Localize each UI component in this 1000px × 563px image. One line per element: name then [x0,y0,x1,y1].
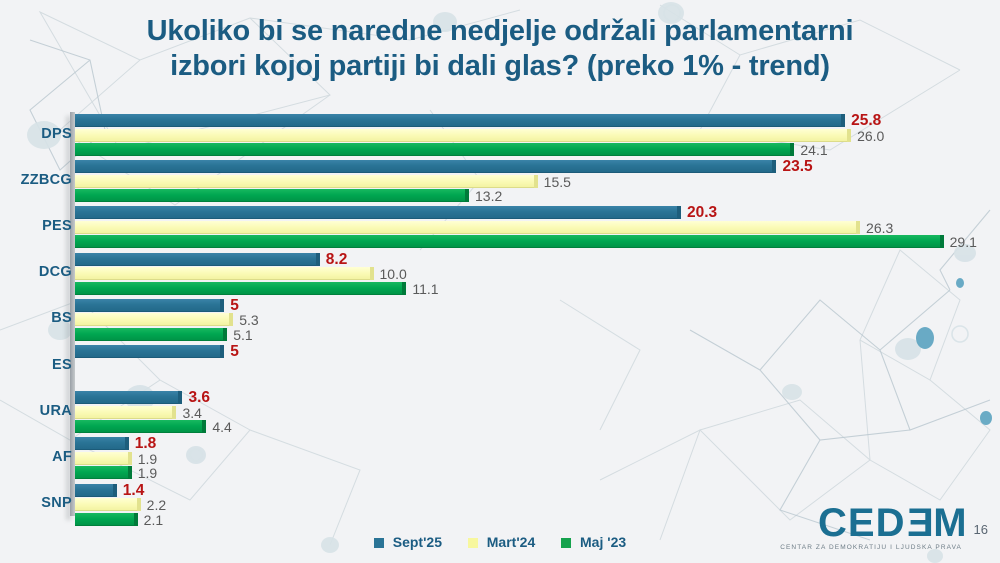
bar-end-cap [113,484,117,497]
category-label-es: ES [52,357,72,373]
cedem-logo: CEDEM 16 CENTAR ZA DEMOKRATIJU I LJUDSKA… [780,504,988,551]
bar-snp-series-2[interactable] [75,513,138,526]
category-label-snp: SNP [41,495,72,511]
value-label-bs-series-0: 5 [230,297,239,315]
bar-bs-series-2[interactable] [75,328,227,341]
value-label-ura-series-2: 4.4 [212,419,231,435]
bar-end-cap [128,452,132,465]
value-label-pes-series-0: 20.3 [687,204,717,222]
bar-end-cap [229,313,233,326]
bar-es-series-0[interactable] [75,345,224,358]
bar-dps-series-1[interactable] [75,129,851,142]
bar-dcg-series-1[interactable] [75,267,374,280]
legend-swatch-icon-0 [374,538,384,548]
value-label-dcg-series-1: 10.0 [380,266,407,282]
bar-ura-series-2[interactable] [75,420,206,433]
bar-row [75,391,182,404]
bar-pes-series-2[interactable] [75,235,944,248]
bar-row [75,484,117,497]
bar-end-cap [172,406,176,419]
bar-end-cap [465,189,469,202]
bar-row [75,406,176,419]
bar-row [75,452,132,465]
bar-row [75,221,860,234]
bar-group: BS55.35.1 [0,299,1000,345]
bar-group: ES5 [0,345,1000,391]
value-label-af-series-2: 1.9 [138,465,157,481]
bar-group: URA3.63.44.4 [0,391,1000,437]
value-label-pes-series-2: 29.1 [950,234,977,250]
bar-end-cap [856,221,860,234]
bar-dps-series-2[interactable] [75,143,794,156]
bar-group: DCG8.210.011.1 [0,253,1000,299]
bar-end-cap [137,498,141,511]
bar-zzbcg-series-0[interactable] [75,160,776,173]
legend-item-0[interactable]: Sept'25 [374,534,442,550]
legend-item-2[interactable]: Maj '23 [561,534,626,550]
bar-group: PES20.326.329.1 [0,206,1000,252]
bar-group: AF1.81.91.9 [0,437,1000,483]
bar-dcg-series-0[interactable] [75,253,320,266]
bar-row [75,253,320,266]
bar-row [75,513,138,526]
bar-row [75,160,776,173]
bar-pes-series-0[interactable] [75,206,681,219]
bar-row [75,328,227,341]
bar-end-cap [940,235,944,248]
bar-row [75,282,406,295]
brand-wordmark: CEDEM [818,504,967,542]
bar-row [75,466,132,479]
bar-group: ZZBCG23.515.513.2 [0,160,1000,206]
bar-chart-plot-area: DPS25.826.024.1ZZBCG23.515.513.2PES20.32… [0,108,1000,520]
bar-end-cap [125,437,129,450]
bar-end-cap [128,466,132,479]
category-label-zzbcg: ZZBCG [21,172,72,188]
bar-end-cap [178,391,182,404]
bar-end-cap [677,206,681,219]
value-label-zzbcg-series-2: 13.2 [475,188,502,204]
bar-af-series-2[interactable] [75,466,132,479]
value-label-dcg-series-0: 8.2 [326,251,348,269]
value-label-dps-series-1: 26.0 [857,128,884,144]
bar-end-cap [841,114,845,127]
page-number: 16 [974,522,988,542]
bar-af-series-0[interactable] [75,437,129,450]
bar-row [75,420,206,433]
brand-wordmark-part-1: CE [818,501,876,545]
value-label-snp-series-2: 2.1 [144,512,163,528]
bar-end-cap [134,513,138,526]
bar-bs-series-1[interactable] [75,313,233,326]
category-label-dps: DPS [41,126,72,142]
legend-item-1[interactable]: Mart'24 [468,534,535,550]
value-label-zzbcg-series-1: 15.5 [544,174,571,190]
brand-wordmark-part-3: E [906,504,934,542]
bar-end-cap [223,328,227,341]
value-label-dps-series-2: 24.1 [800,142,827,158]
bar-row [75,313,233,326]
bar-row [75,235,944,248]
bar-row [75,175,538,188]
bar-row [75,498,141,511]
bar-row [75,189,469,202]
legend-swatch-icon-2 [561,538,571,548]
bar-snp-series-1[interactable] [75,498,141,511]
brand-wordmark-part-4: M [933,501,967,545]
legend-swatch-icon-1 [468,538,478,548]
bar-zzbcg-series-2[interactable] [75,189,469,202]
bar-pes-series-1[interactable] [75,221,860,234]
bar-ura-series-1[interactable] [75,406,176,419]
bar-af-series-1[interactable] [75,452,132,465]
value-label-ura-series-1: 3.4 [182,405,201,421]
bar-end-cap [220,299,224,312]
bar-end-cap [202,420,206,433]
category-label-ura: URA [40,403,72,419]
bar-row [75,206,681,219]
bar-dcg-series-2[interactable] [75,282,406,295]
category-label-dcg: DCG [39,264,72,280]
bar-bs-series-0[interactable] [75,299,224,312]
value-label-bs-series-2: 5.1 [233,327,252,343]
value-label-pes-series-1: 26.3 [866,220,893,236]
legend-label-2: Maj '23 [580,534,626,550]
bar-dps-series-0[interactable] [75,114,845,127]
bar-end-cap [370,267,374,280]
value-label-zzbcg-series-0: 23.5 [782,158,812,176]
value-label-es-series-0: 5 [230,343,239,361]
category-label-pes: PES [42,218,72,234]
category-label-af: AF [52,449,72,465]
bar-end-cap [772,160,776,173]
bar-row [75,299,224,312]
bar-zzbcg-series-1[interactable] [75,175,538,188]
category-label-bs: BS [51,310,72,326]
brand-subtitle: CENTAR ZA DEMOKRATIJU I LJUDSKA PRAVA [780,544,962,551]
legend-label-1: Mart'24 [487,534,535,550]
value-label-dcg-series-2: 11.1 [412,281,438,297]
bar-row [75,345,224,358]
bar-snp-series-0[interactable] [75,484,117,497]
legend-label-0: Sept'25 [393,534,442,550]
bar-end-cap [790,143,794,156]
page-title: Ukoliko bi se naredne nedjelje održali p… [0,14,1000,85]
value-label-snp-series-0: 1.4 [123,482,145,500]
bar-row [75,437,129,450]
bar-end-cap [220,345,224,358]
bar-row [75,129,851,142]
bar-row [75,143,794,156]
bar-ura-series-0[interactable] [75,391,182,404]
brand-wordmark-part-2: D [876,501,906,545]
bar-group: DPS25.826.024.1 [0,114,1000,160]
page-title-line-1: Ukoliko bi se naredne nedjelje održali p… [0,14,1000,49]
bar-end-cap [402,282,406,295]
bar-end-cap [534,175,538,188]
bar-end-cap [316,253,320,266]
bar-row [75,114,845,127]
bar-row [75,267,374,280]
page-title-line-2: izbori kojoj partiji bi dali glas? (prek… [0,49,1000,84]
bar-end-cap [847,129,851,142]
